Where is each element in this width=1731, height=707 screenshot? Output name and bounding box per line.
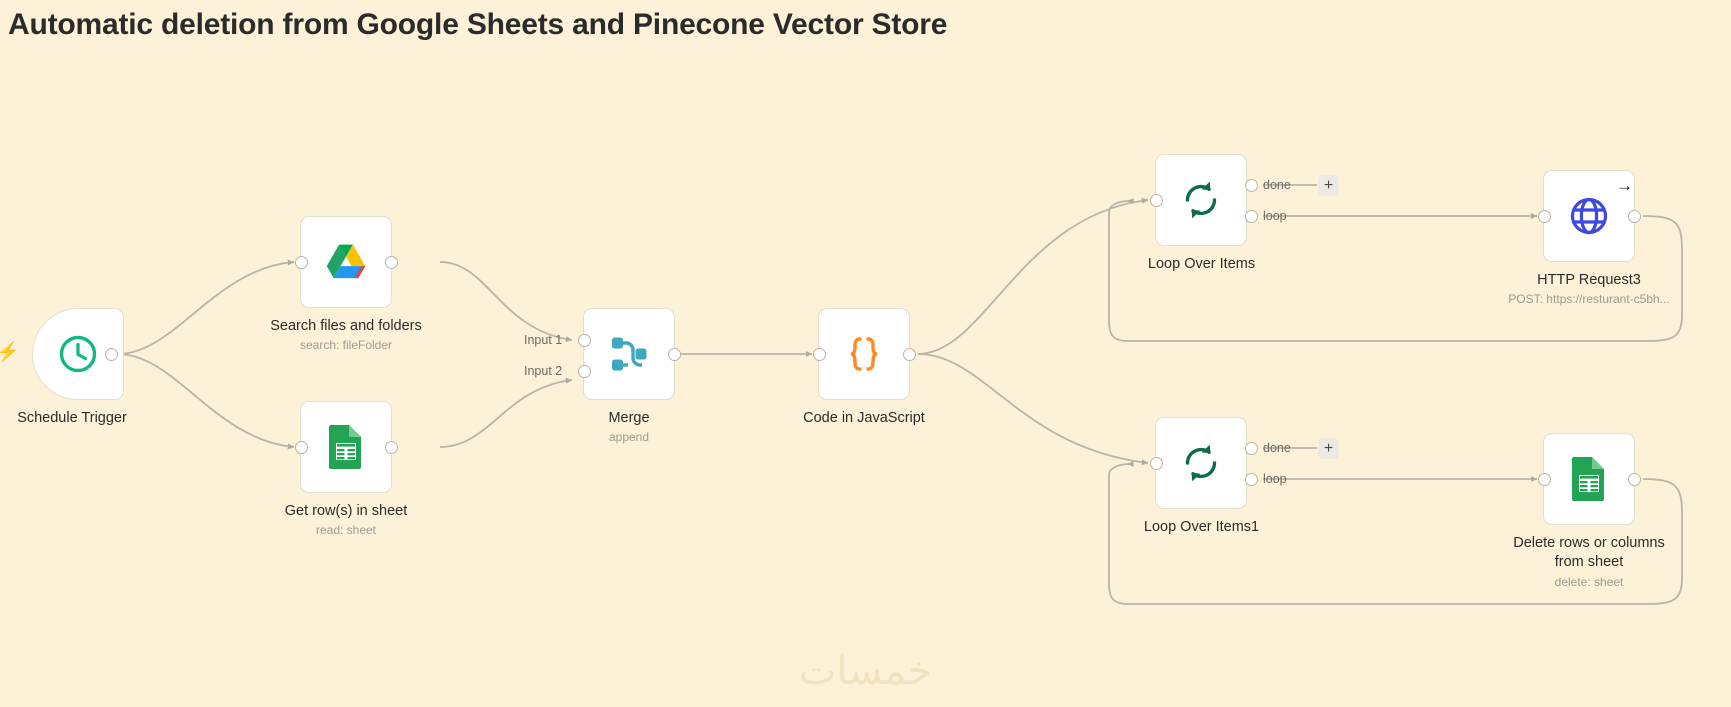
loop-icon (1179, 441, 1223, 485)
port-loop-over-items1-input[interactable] (1150, 457, 1163, 470)
port-merge-output[interactable] (668, 348, 681, 361)
google-sheets-icon (1570, 455, 1608, 503)
node-label-search-files-and-folders: Search files and folders (246, 317, 446, 335)
node-label-http-request3: HTTP Request3 (1489, 271, 1689, 289)
port-loop-over-items-output-done[interactable] (1245, 179, 1258, 192)
node-subtitle-search-files-and-folders: search: fileFolder (246, 338, 446, 352)
port-loop-over-items1-output-loop[interactable] (1245, 473, 1258, 486)
node-subtitle-delete-rows: delete: sheet (1478, 575, 1700, 589)
node-loop-over-items[interactable] (1155, 154, 1247, 246)
port-label-loop-over-items-done: done (1263, 178, 1291, 192)
node-get-rows-in-sheet[interactable] (300, 401, 392, 493)
node-code-in-javascript[interactable] (818, 308, 910, 400)
node-search-files-and-folders[interactable] (300, 216, 392, 308)
port-label-loop-over-items1-done: done (1263, 441, 1291, 455)
port-loop-over-items-output-loop[interactable] (1245, 210, 1258, 223)
port-get-rows-output[interactable] (385, 441, 398, 454)
node-label-delete-rows-line1: Delete rows or columns (1478, 534, 1700, 552)
port-merge-input-2[interactable] (578, 365, 591, 378)
node-label-loop-over-items1: Loop Over Items1 (1104, 518, 1299, 536)
node-loop-over-items1[interactable] (1155, 417, 1247, 509)
port-search-files-input[interactable] (295, 256, 308, 269)
node-subtitle-http-request3: POST: https://resturant-c5bh... (1469, 292, 1709, 306)
add-node-button-loop-over-items1-done[interactable]: + (1318, 438, 1339, 459)
port-code-input[interactable] (813, 348, 826, 361)
port-label-loop-over-items1-loop: loop (1263, 472, 1287, 486)
watermark: خمسات (0, 648, 1731, 694)
curly-braces-icon (841, 331, 887, 377)
clock-icon (56, 332, 100, 376)
node-delete-rows-or-columns-from-sheet[interactable] (1543, 433, 1635, 525)
google-drive-icon (324, 242, 368, 282)
workflow-canvas[interactable]: Automatic deletion from Google Sheets an… (0, 0, 1731, 707)
port-delete-rows-output[interactable] (1628, 473, 1641, 486)
port-label-merge-input-1: Input 1 (524, 333, 562, 347)
port-delete-rows-input[interactable] (1538, 473, 1551, 486)
globe-icon (1566, 193, 1612, 239)
port-code-output[interactable] (903, 348, 916, 361)
port-get-rows-input[interactable] (295, 441, 308, 454)
node-label-merge: Merge (529, 409, 729, 427)
port-merge-input-1[interactable] (578, 334, 591, 347)
port-http-request3-input[interactable] (1538, 210, 1551, 223)
merge-icon (606, 332, 652, 376)
port-label-merge-input-2: Input 2 (524, 364, 562, 378)
node-label-get-rows-in-sheet: Get row(s) in sheet (246, 502, 446, 520)
port-http-request3-output[interactable] (1628, 210, 1641, 223)
node-label-code-in-javascript: Code in JavaScript (764, 409, 964, 427)
trigger-bolt-icon: ⚡ (0, 343, 20, 362)
add-node-button-loop-over-items-done[interactable]: + (1318, 175, 1339, 196)
node-label-delete-rows-line2: from sheet (1478, 553, 1700, 571)
node-subtitle-merge: append (529, 430, 729, 444)
node-merge[interactable] (583, 308, 675, 400)
port-schedule-trigger-output[interactable] (105, 348, 118, 361)
port-loop-over-items-input[interactable] (1150, 194, 1163, 207)
loop-icon (1179, 178, 1223, 222)
node-label-loop-over-items: Loop Over Items (1104, 255, 1299, 273)
port-loop-over-items1-output-done[interactable] (1245, 442, 1258, 455)
node-subtitle-get-rows-in-sheet: read: sheet (246, 523, 446, 537)
port-search-files-output[interactable] (385, 256, 398, 269)
port-label-loop-over-items-loop: loop (1263, 209, 1287, 223)
google-sheets-icon (327, 423, 365, 471)
node-label-schedule-trigger: Schedule Trigger (0, 409, 172, 427)
page-title: Automatic deletion from Google Sheets an… (8, 8, 947, 42)
arrow-right-icon: → (1616, 177, 1633, 194)
